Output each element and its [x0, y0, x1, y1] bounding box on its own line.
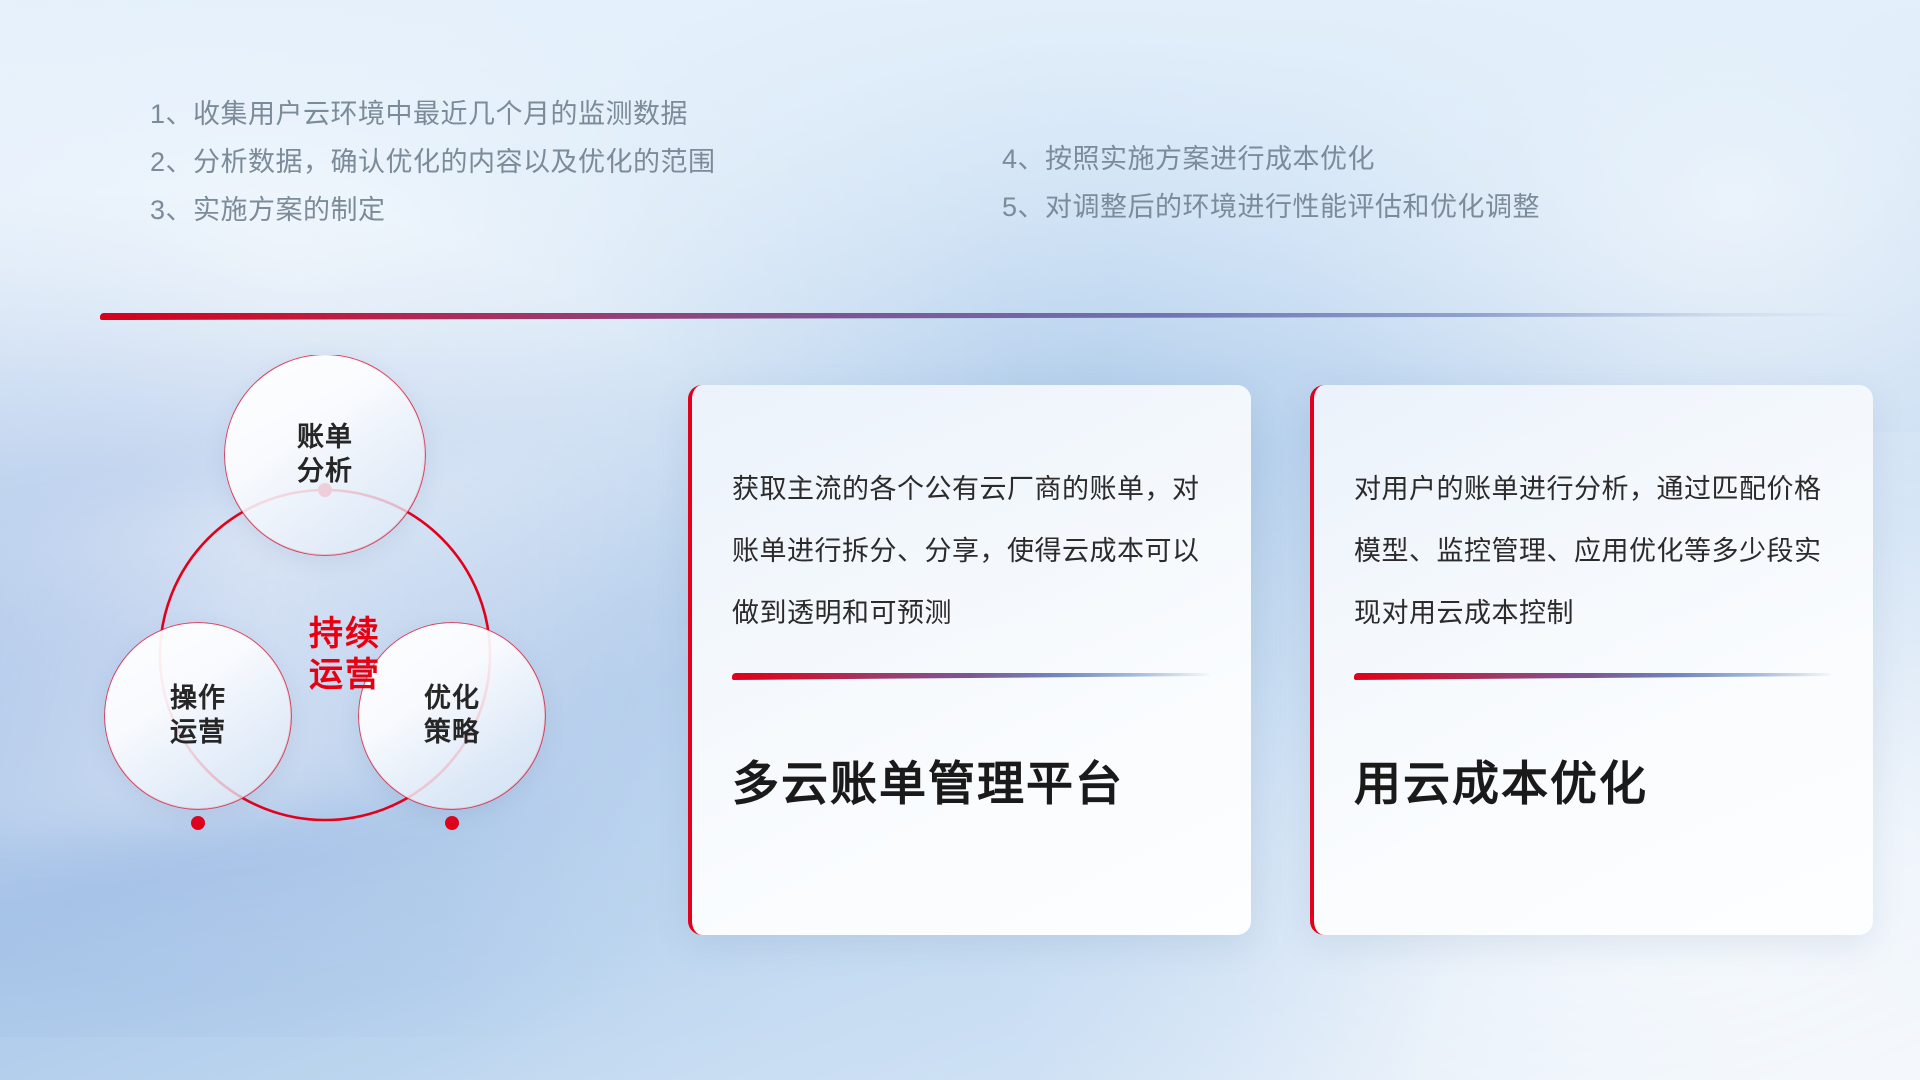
- venn-node-dot-bottom-left: [191, 816, 205, 830]
- card-cloud-cost-optimization[interactable]: 对用户的账单进行分析，通过匹配价格模型、监控管理、应用优化等多少段实现对用云成本…: [1310, 385, 1873, 935]
- venn-node-label: 账单 分析: [297, 421, 353, 489]
- card-gradient-divider: [1354, 673, 1832, 680]
- card-body-text: 获取主流的各个公有云厂商的账单，对账单进行拆分、分享，使得云成本可以做到透明和可…: [732, 458, 1222, 644]
- venn-node-label: 操作 运营: [170, 682, 226, 750]
- venn-node-label-line1: 操作: [170, 683, 226, 713]
- card-body-text: 对用户的账单进行分析，通过匹配价格模型、监控管理、应用优化等多少段实现对用云成本…: [1354, 458, 1844, 644]
- step-item: 3、实施方案的制定: [150, 186, 716, 234]
- venn-node-label-line2: 分析: [297, 456, 353, 486]
- venn-center-label-line1: 持续: [309, 615, 381, 653]
- steps-left-column: 1、收集用户云环境中最近几个月的监测数据 2、分析数据，确认优化的内容以及优化的…: [150, 90, 716, 234]
- card-gradient-divider: [732, 673, 1210, 680]
- step-item: 5、对调整后的环境进行性能评估和优化调整: [1002, 183, 1540, 231]
- steps-right-column: 4、按照实施方案进行成本优化 5、对调整后的环境进行性能评估和优化调整: [1002, 135, 1540, 231]
- venn-node-label-line1: 账单: [297, 422, 353, 452]
- venn-center-label-wrap: 持续 运营: [235, 545, 455, 765]
- venn-diagram: 账单 分析 操作 运营 优化 策略 持续 运营: [95, 355, 615, 915]
- steps-section: 1、收集用户云环境中最近几个月的监测数据 2、分析数据，确认优化的内容以及优化的…: [0, 90, 1920, 270]
- venn-node-label-line2: 运营: [170, 717, 226, 747]
- card-title: 用云成本优化: [1354, 745, 1844, 814]
- venn-node-bill-analysis: 账单 分析: [225, 355, 425, 555]
- venn-center-label: 持续 运营: [309, 614, 381, 696]
- card-title: 多云账单管理平台: [732, 745, 1222, 814]
- step-item: 4、按照实施方案进行成本优化: [1002, 135, 1540, 183]
- venn-center-label-line2: 运营: [309, 656, 381, 694]
- step-item: 1、收集用户云环境中最近几个月的监测数据: [150, 90, 716, 138]
- card-multicloud-billing[interactable]: 获取主流的各个公有云厂商的账单，对账单进行拆分、分享，使得云成本可以做到透明和可…: [688, 385, 1251, 935]
- step-item: 2、分析数据，确认优化的内容以及优化的范围: [150, 138, 716, 186]
- venn-node-dot-bottom-right: [445, 816, 459, 830]
